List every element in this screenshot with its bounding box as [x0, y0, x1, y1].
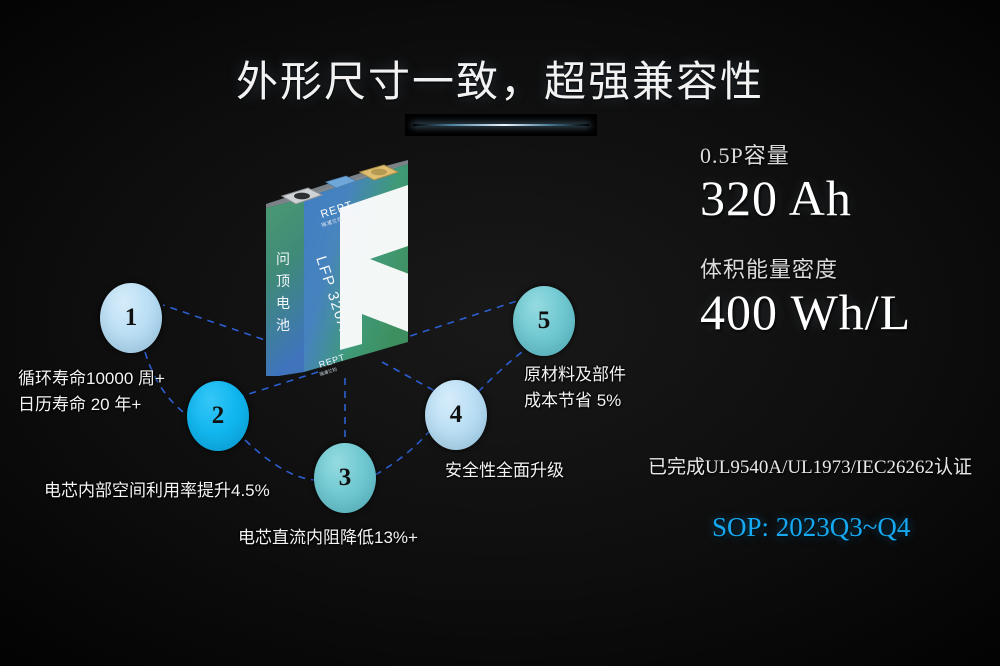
spec-capacity-value: 320 Ah [700, 170, 911, 226]
feature-caption-3: 电芯直流内阻降低13%+ [238, 525, 418, 551]
feature-caption-5-line-2: 成本节省 5% [524, 388, 626, 414]
divider-glow-line [413, 124, 589, 126]
page-title: 外形尺寸一致，超强兼容性 [0, 48, 1000, 109]
feature-node-4-number: 4 [450, 401, 463, 429]
arc-node-3-to-4 [375, 428, 432, 475]
feature-caption-3-line-1: 电芯直流内阻降低13%+ [238, 525, 418, 551]
feature-node-1-number: 1 [125, 304, 138, 332]
feature-node-2[interactable]: 2 [187, 381, 249, 451]
feature-node-5[interactable]: 5 [513, 286, 575, 356]
certification-text: 已完成UL9540A/UL1973/IEC26262认证 [648, 452, 972, 479]
arc-node-2-to-3 [245, 440, 315, 480]
spec-capacity-label: 0.5P容量 [700, 138, 911, 170]
feature-caption-4: 安全性全面升级 [445, 458, 564, 484]
feature-node-4[interactable]: 4 [425, 380, 487, 450]
feature-node-5-number: 5 [538, 307, 551, 335]
battery-cell-illustration: REPT 瑞浦兰钧 REPT 瑞浦兰钧 LFP 320Ah 问 顶 电 池 [248, 146, 448, 376]
feature-caption-2-line-1: 电芯内部空间利用率提升4.5% [44, 478, 270, 504]
feature-caption-1-line-2: 日历寿命 20 年+ [18, 392, 165, 418]
svg-text:电: 电 [276, 295, 290, 311]
arc-node-4-to-5 [478, 350, 525, 392]
feature-caption-5-line-1: 原材料及部件 [524, 362, 626, 388]
spec-column: 0.5P容量 320 Ah 体积能量密度 400 Wh/L [700, 138, 911, 366]
battery-negative-terminal-hole [294, 193, 310, 200]
spec-energy-density-label: 体积能量密度 [700, 252, 911, 284]
feature-caption-4-line-1: 安全性全面升级 [445, 458, 564, 484]
feature-node-3[interactable]: 3 [314, 443, 376, 513]
battery-positive-terminal-hole [371, 169, 387, 176]
svg-text:池: 池 [276, 317, 290, 333]
feature-node-3-number: 3 [339, 464, 352, 492]
feature-caption-1-line-1: 循环寿命10000 周+ [18, 366, 165, 392]
feature-node-2-number: 2 [212, 402, 225, 430]
slide-canvas: 外形尺寸一致，超强兼容性 [0, 0, 1000, 666]
feature-caption-1: 循环寿命10000 周+ 日历寿命 20 年+ [18, 366, 165, 419]
feature-caption-2: 电芯内部空间利用率提升4.5% [44, 478, 270, 504]
spec-energy-density-value: 400 Wh/L [700, 284, 911, 340]
sop-text: SOP: 2023Q3~Q4 [712, 512, 910, 543]
feature-caption-5: 原材料及部件 成本节省 5% [524, 362, 626, 415]
title-divider [405, 114, 597, 136]
feature-node-1[interactable]: 1 [100, 283, 162, 353]
svg-text:顶: 顶 [276, 273, 290, 289]
svg-text:问: 问 [276, 251, 290, 267]
